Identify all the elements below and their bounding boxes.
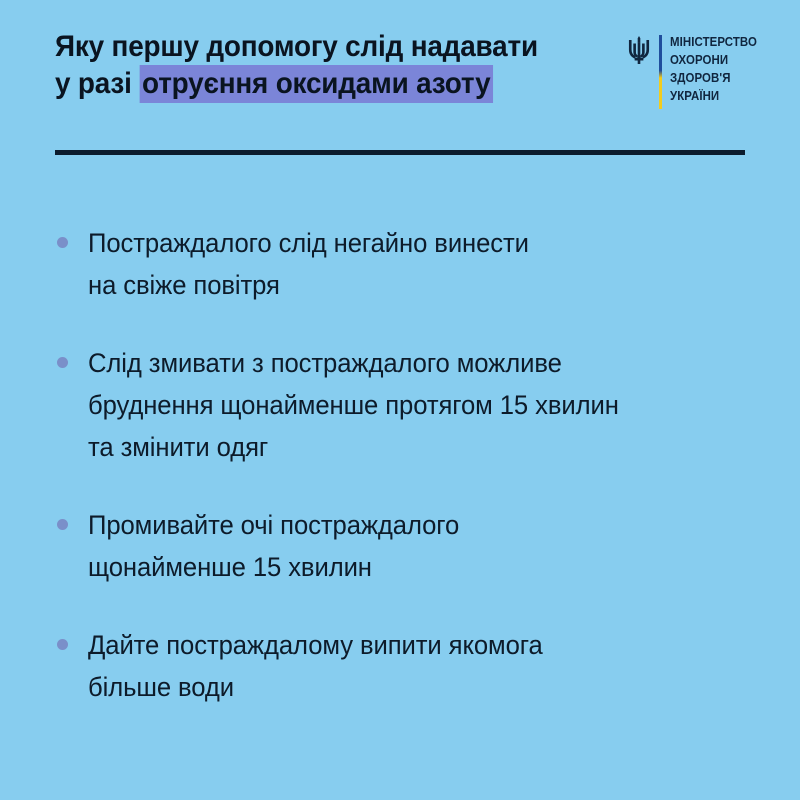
bullet-dot-icon — [57, 237, 68, 248]
title-line-1: Яку першу допомогу слід надавати — [55, 28, 576, 65]
bullet-dot-icon — [57, 519, 68, 530]
list-item: Дайте постраждалому випити якомога більш… — [0, 624, 800, 708]
list-item-text: Дайте постраждалому випити якомога більш… — [88, 624, 764, 708]
title-highlight: отруєння оксидами азоту — [139, 65, 493, 103]
logo-text: МІНІСТЕРСТВО ОХОРОНИ ЗДОРОВ'Я УКРАЇНИ — [670, 33, 769, 105]
list-item-text: Промивайте очі постраждалого щонайменше … — [88, 504, 764, 588]
logo-line-2: ОХОРОНИ — [670, 51, 757, 69]
logo-line-3: ЗДОРОВ'Я — [670, 69, 757, 87]
ministry-logo: МІНІСТЕРСТВО ОХОРОНИ ЗДОРОВ'Я УКРАЇНИ — [628, 33, 769, 115]
advice-list: Постраждалого слід негайно винести на св… — [0, 222, 800, 744]
list-item-text: Слід змивати з постраждалого можливе бру… — [88, 342, 764, 468]
page-title: Яку першу допомогу слід надавати у разі … — [55, 28, 615, 102]
bullet-dot-icon — [57, 357, 68, 368]
title-line-2-prefix: у разі — [55, 67, 139, 100]
logo-line-4: УКРАЇНИ — [670, 87, 757, 105]
list-item-text: Постраждалого слід негайно винести на св… — [88, 222, 764, 306]
ukraine-trident-icon — [628, 36, 650, 64]
logo-flag-divider — [659, 35, 662, 109]
header-divider — [55, 150, 745, 155]
bullet-dot-icon — [57, 639, 68, 650]
logo-line-1: МІНІСТЕРСТВО — [670, 33, 757, 51]
header: Яку першу допомогу слід надавати у разі … — [0, 0, 800, 175]
list-item: Слід змивати з постраждалого можливе бру… — [0, 342, 800, 468]
list-item: Промивайте очі постраждалого щонайменше … — [0, 504, 800, 588]
list-item: Постраждалого слід негайно винести на св… — [0, 222, 800, 306]
poster-canvas: Яку першу допомогу слід надавати у разі … — [0, 0, 800, 800]
title-line-2: у разі отруєння оксидами азоту — [55, 65, 576, 102]
